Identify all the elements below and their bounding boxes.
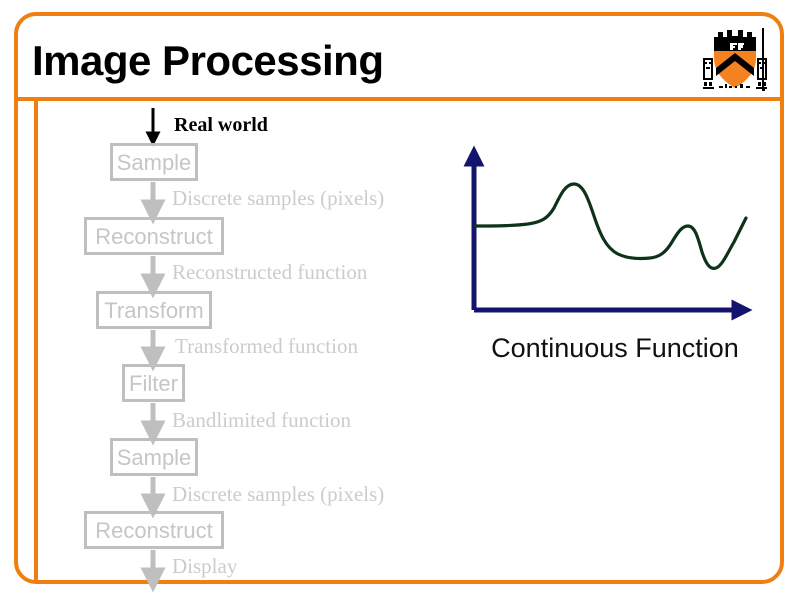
page-title: Image Processing (32, 36, 383, 86)
flow-node-transform[interactable]: Transform (96, 291, 212, 329)
flow-entry-label: Real world (174, 113, 268, 137)
slide-canvas: Image Processing (0, 0, 800, 600)
flow-node-filter[interactable]: Filter (122, 364, 185, 402)
flow-edge-label-display: Display (172, 554, 237, 578)
flow-edge-label-transformed-function: Transformed function (175, 334, 358, 358)
flow-edge-label-discrete-samples-2: Discrete samples (pixels) (172, 482, 384, 506)
flow-node-sample-2[interactable]: Sample (110, 438, 198, 476)
sidebar-divider-line (34, 99, 38, 582)
title-separator-rule (14, 97, 784, 101)
flow-edge-label-bandlimited-function: Bandlimited function (172, 408, 351, 432)
flow-node-sample-1[interactable]: Sample (110, 143, 198, 181)
continuous-function-chart (450, 130, 770, 330)
flow-node-reconstruct-1[interactable]: Reconstruct (84, 217, 224, 255)
chart-curve-continuous-signal (475, 184, 746, 268)
chart-caption: Continuous Function (450, 331, 780, 365)
flow-node-reconstruct-2[interactable]: Reconstruct (84, 511, 224, 549)
flow-edge-label-discrete-samples-1: Discrete samples (pixels) (172, 186, 384, 210)
princeton-shield-logo (700, 24, 776, 94)
flow-edge-label-reconstructed-function: Reconstructed function (172, 260, 367, 284)
